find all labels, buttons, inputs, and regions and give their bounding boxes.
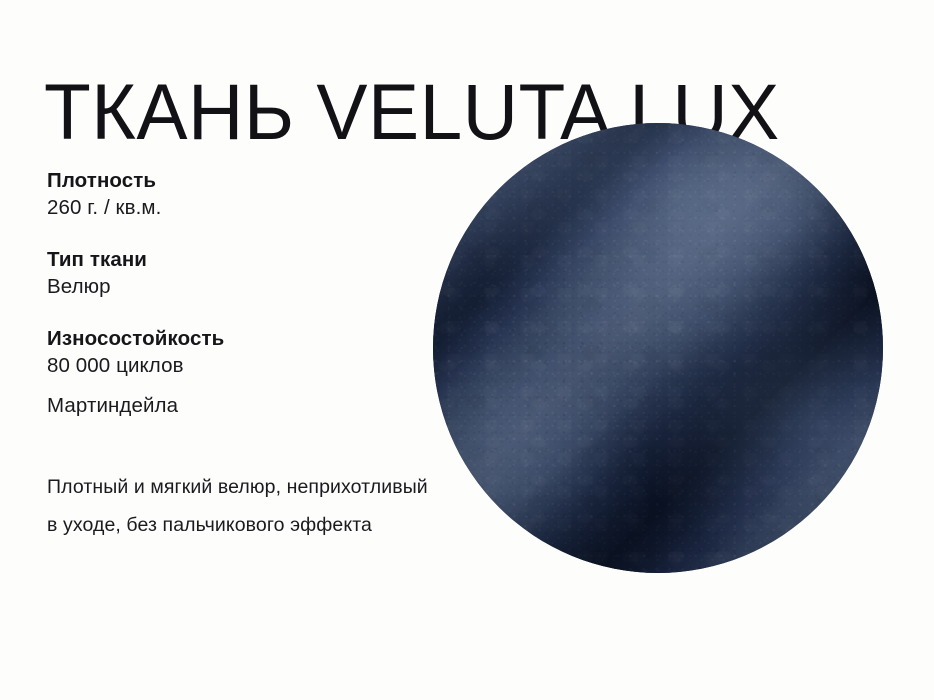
specs-list: Плотность 260 г. / кв.м. Тип ткани Велюр… [47,168,427,419]
spec-item-fabric-type: Тип ткани Велюр [47,247,427,300]
spec-item-density: Плотность 260 г. / кв.м. [47,168,427,221]
swatch-vignette [433,123,883,573]
fabric-description: Плотный и мягкий велюр, неприхотливый в … [47,468,437,544]
spec-value-continuation: Мартиндейла [47,392,427,419]
spec-label: Износостойкость [47,326,427,352]
spec-item-abrasion-resistance: Износостойкость 80 000 циклов Мартиндейл… [47,326,427,419]
spec-value: Велюр [47,273,427,300]
fabric-info-card: ТКАНЬ VELUTA LUX Плотность 260 г. / кв.м… [0,0,934,700]
spec-label: Тип ткани [47,247,427,273]
spec-label: Плотность [47,168,427,194]
spec-value: 260 г. / кв.м. [47,194,427,221]
fabric-swatch-image [433,123,883,573]
spec-value: 80 000 циклов [47,352,427,379]
